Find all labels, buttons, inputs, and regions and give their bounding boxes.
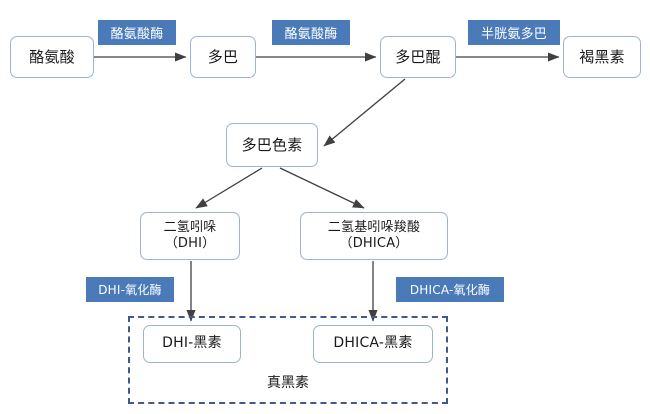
pathway-diagram: 真黑素 酪氨酸多巴多巴醌褐黑素多巴色素二氢吲哚 （DHI）二氢基吲哚羧酸 （DH… <box>0 0 650 414</box>
arrow-dopaquinone-to-dopachrome <box>324 79 405 146</box>
node-dopachrome[interactable]: 多巴色素 <box>226 123 318 167</box>
node-dhica[interactable]: 二氢基吲哚羧酸 （DHICA） <box>300 212 448 260</box>
node-dopa[interactable]: 多巴 <box>190 36 256 78</box>
node-dhica_melanin[interactable]: DHICA-黑素 <box>313 325 433 363</box>
enzyme-label-dhica_oxidase[interactable]: DHICA-氧化酶 <box>396 277 504 302</box>
arrow-dopachrome-to-dhi <box>196 168 262 208</box>
enzyme-label-text: DHI-氧化酶 <box>98 281 162 298</box>
node-tyrosine[interactable]: 酪氨酸 <box>10 36 94 78</box>
node-label: 酪氨酸 <box>29 48 75 66</box>
node-dhi_melanin[interactable]: DHI-黑素 <box>143 325 241 363</box>
node-label: 二氢吲哚 （DHI） <box>164 220 217 252</box>
enzyme-label-dhi_oxidase[interactable]: DHI-氧化酶 <box>86 277 174 302</box>
enzyme-label-text: 酪氨酸酶 <box>285 23 338 42</box>
node-dhi[interactable]: 二氢吲哚 （DHI） <box>140 212 240 260</box>
node-label: DHI-黑素 <box>162 335 222 352</box>
node-label: 多巴醌 <box>395 48 441 66</box>
enzyme-label-tyrosinase_1[interactable]: 酪氨酸酶 <box>98 20 176 45</box>
enzyme-label-cysteinyldopa[interactable]: 半胱氨多巴 <box>468 20 560 45</box>
enzyme-label-text: 酪氨酸酶 <box>111 23 164 42</box>
enzyme-label-tyrosinase_2[interactable]: 酪氨酸酶 <box>272 20 350 45</box>
arrow-dopachrome-to-dhica <box>280 168 364 208</box>
node-pheomelanin[interactable]: 褐黑素 <box>563 36 641 78</box>
node-dopaquinone[interactable]: 多巴醌 <box>380 36 456 78</box>
enzyme-label-text: DHICA-氧化酶 <box>410 281 490 298</box>
node-label: DHICA-黑素 <box>333 335 412 352</box>
enzyme-label-text: 半胱氨多巴 <box>481 23 547 42</box>
eumelanin-group-caption: 真黑素 <box>128 372 448 392</box>
node-label: 多巴 <box>208 48 238 66</box>
node-label: 多巴色素 <box>242 136 303 154</box>
node-label: 二氢基吲哚羧酸 （DHICA） <box>328 220 420 252</box>
node-label: 褐黑素 <box>579 48 625 66</box>
